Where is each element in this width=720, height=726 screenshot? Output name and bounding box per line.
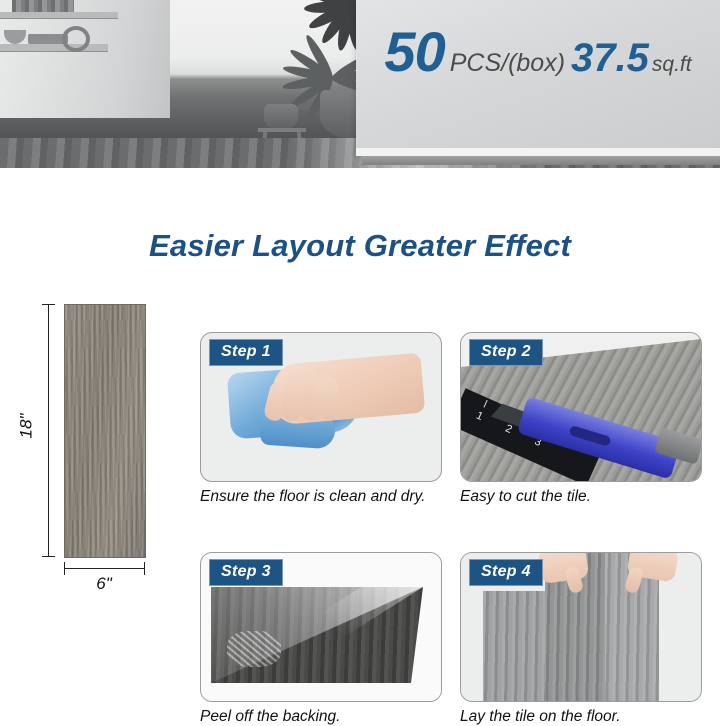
plank-swatch — [64, 304, 146, 558]
step-caption-4: Lay the tile on the floor. — [460, 708, 621, 726]
planter-small — [264, 104, 298, 130]
coverage-value: 37.5 — [571, 38, 649, 78]
books — [12, 0, 74, 12]
bowl-decor — [4, 30, 26, 44]
plank-dimension-diagram: 18" 6" — [16, 296, 176, 586]
step-caption-1: Ensure the floor is clean and dry. — [200, 488, 425, 506]
plant-stand — [258, 128, 306, 132]
quantity-unit: PCS/(box) — [450, 51, 565, 76]
ruler-mark-1: 1 — [474, 410, 484, 423]
shelf-upper — [0, 12, 118, 18]
step-badge-4: Step 4 — [469, 559, 543, 586]
wall-left — [0, 0, 170, 118]
width-dimension-line — [64, 568, 144, 569]
step-card-4: Step 4 — [460, 552, 702, 702]
step-badge-1: Step 1 — [209, 339, 283, 366]
ring-decor — [62, 26, 90, 52]
coverage-unit: sq.ft — [652, 54, 692, 75]
spec-panel-shadow — [362, 156, 720, 165]
hero-banner: 50 PCS/(box) 37.5 sq.ft — [0, 0, 720, 168]
width-label: 6" — [64, 574, 144, 594]
step-badge-2: Step 2 — [469, 339, 543, 366]
shelf-lower — [0, 44, 108, 51]
step-caption-3: Peel off the backing. — [200, 708, 340, 726]
spec-panel-edge — [356, 148, 720, 156]
height-cap-top — [42, 304, 55, 305]
quantity-value: 50 — [384, 24, 444, 80]
step-card-3: Step 3 — [200, 552, 442, 702]
fern-plant — [230, 52, 330, 112]
page-title: Easier Layout Greater Effect — [0, 228, 720, 264]
film-crinkle — [227, 631, 281, 667]
finger — [317, 376, 340, 421]
step-card-1: Step 1 — [200, 332, 442, 482]
height-cap-bottom — [42, 556, 55, 557]
step-caption-2: Easy to cut the tile. — [460, 488, 591, 506]
height-dimension-line — [48, 304, 49, 556]
height-label: 18" — [16, 414, 36, 439]
spec-text-group: 50 PCS/(box) 37.5 sq.ft — [356, 24, 720, 86]
floor-plank — [483, 591, 545, 701]
step-card-2: 1 2 3 Step 2 — [460, 332, 702, 482]
step-badge-3: Step 3 — [209, 559, 283, 586]
width-cap-right — [144, 562, 145, 575]
